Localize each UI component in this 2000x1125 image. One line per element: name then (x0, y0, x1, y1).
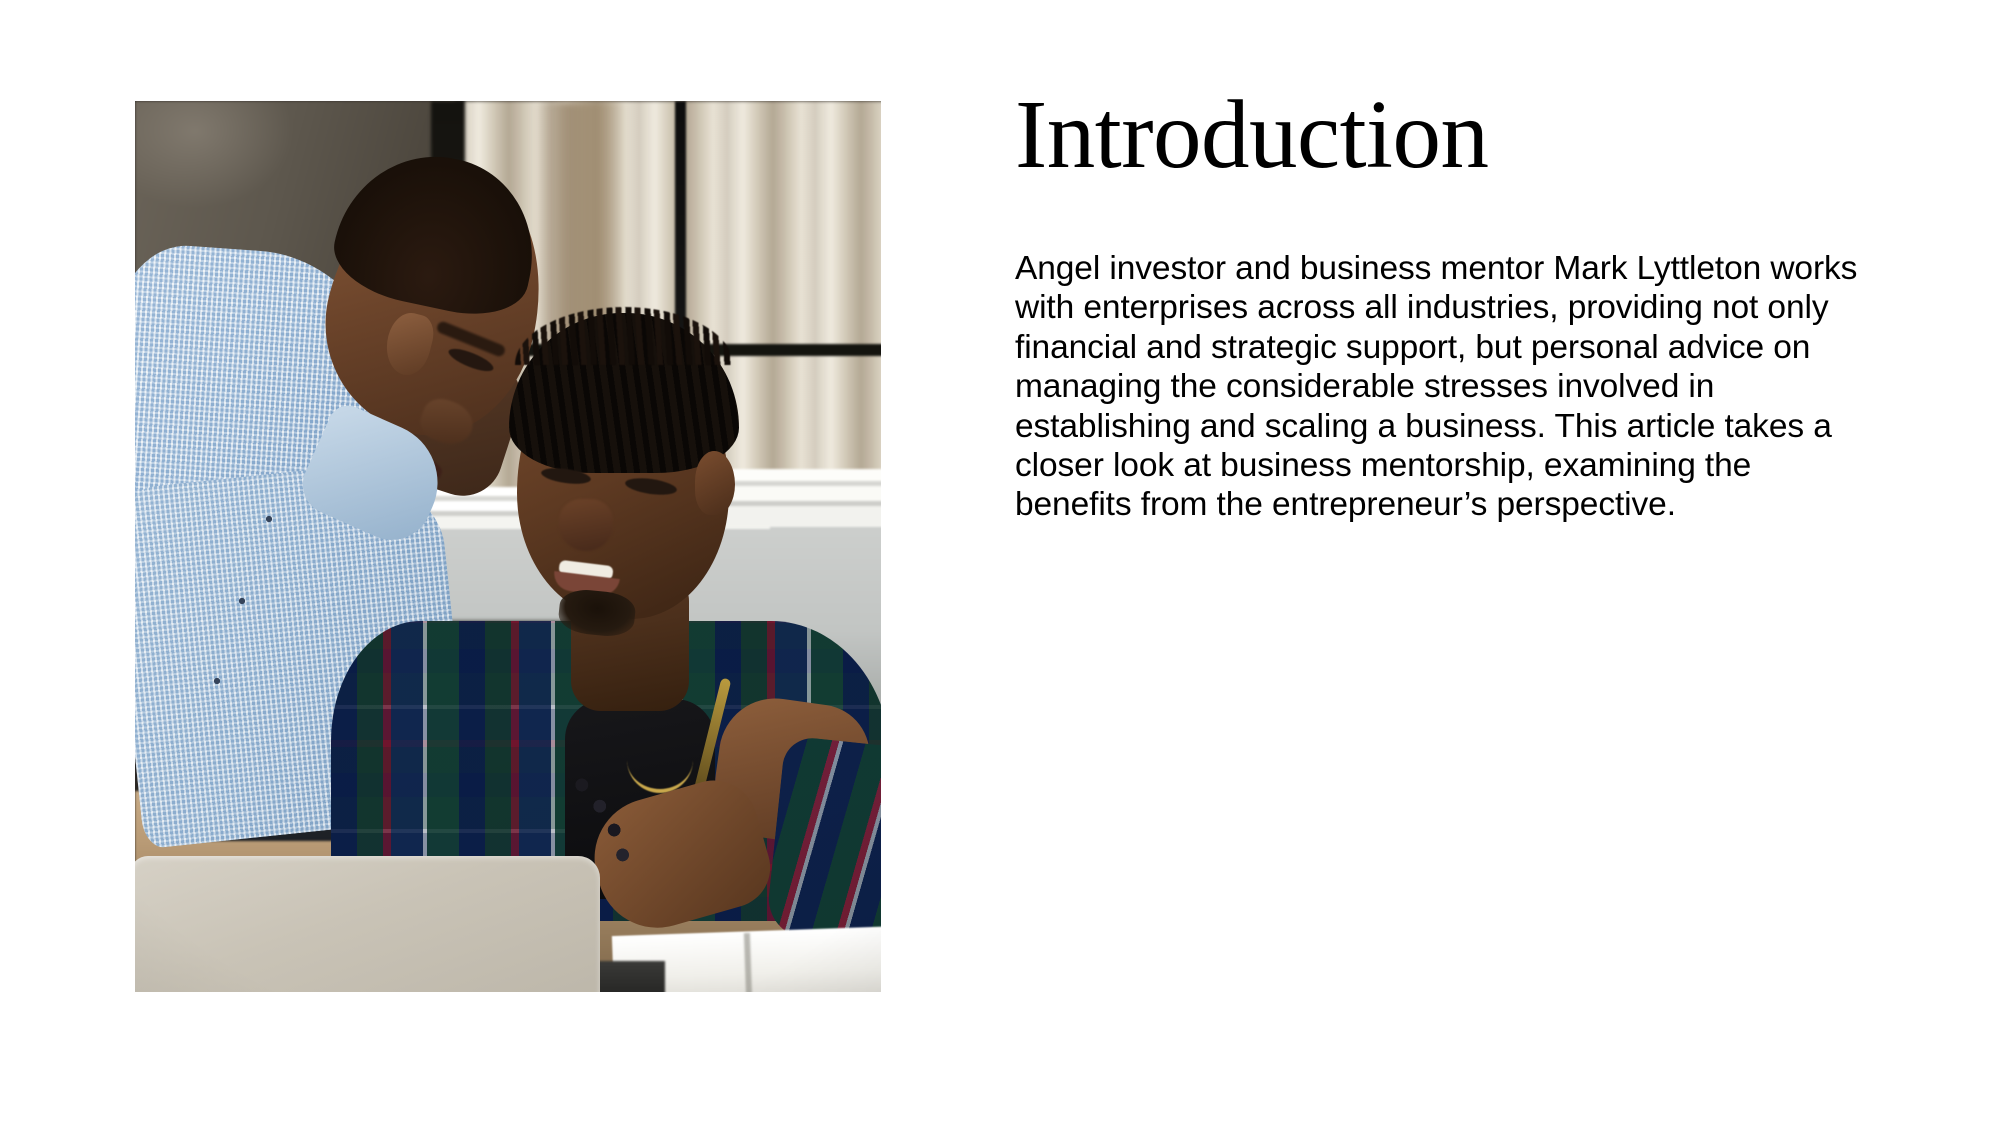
laptop-lid (135, 856, 600, 992)
introduction-photo (135, 101, 881, 992)
mentor-shirt-buttons (207, 501, 307, 711)
text-column: Introduction Angel investor and business… (1015, 86, 1875, 525)
photo-scene (135, 101, 881, 992)
introduction-paragraph: Angel investor and business mentor Mark … (1015, 183, 1860, 525)
page-title: Introduction (1015, 86, 1875, 183)
slide-canvas: Introduction Angel investor and business… (0, 0, 2000, 1125)
entrepreneur-sleeve-cuff (765, 735, 881, 946)
entrepreneur-nose (559, 499, 613, 551)
entrepreneur-ear (695, 451, 735, 515)
